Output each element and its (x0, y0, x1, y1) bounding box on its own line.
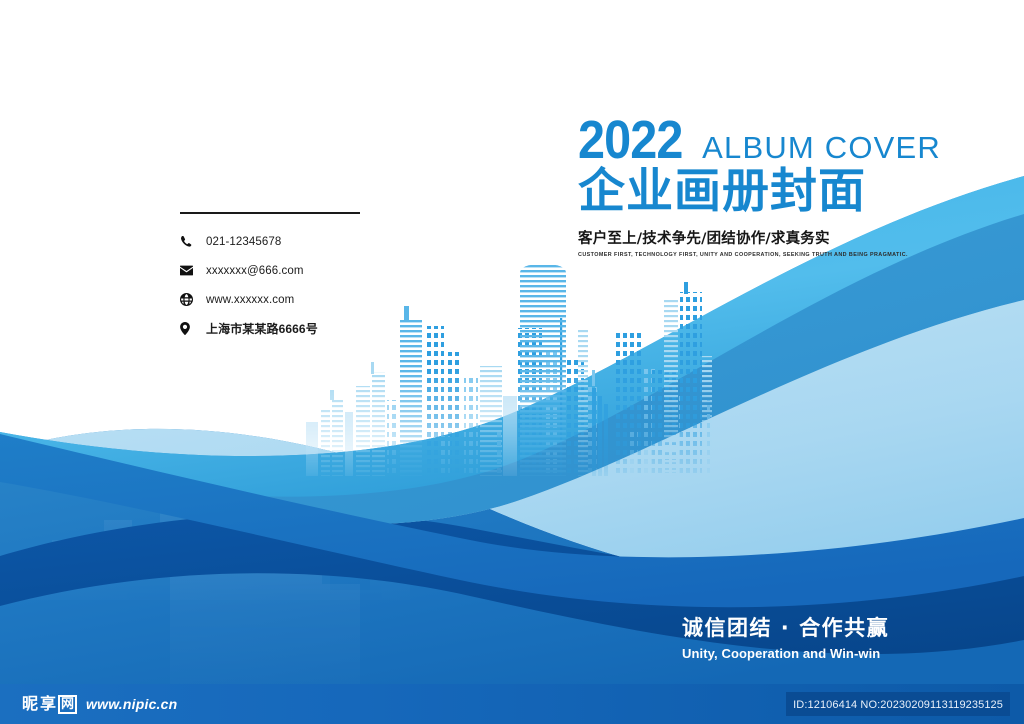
title-album-en: ALBUM COVER (702, 132, 941, 164)
contact-block: 021-12345678 xxxxxxx@666.com www.xxxxxx.… (180, 212, 400, 346)
contact-value-email: xxxxxxx@666.com (206, 265, 304, 277)
contact-value-website: www.xxxxxx.com (206, 294, 294, 306)
wave-background (0, 0, 1024, 684)
contact-value-phone: 021-12345678 (206, 236, 281, 248)
wave-slogan-en: Unity, Cooperation and Win-win (682, 646, 889, 661)
site-logo-cn: 昵 享 网 (22, 695, 77, 714)
phone-icon (180, 235, 206, 248)
wave-slogan-cn: 诚信团结 · 合作共赢 (682, 612, 889, 642)
title-block: 2022 ALBUM COVER 企业画册封面 客户至上/技术争先/团结协作/求… (578, 116, 978, 258)
logo-char-2: 享 (40, 695, 56, 714)
site-logo-url[interactable]: www.nipic.cn (86, 696, 177, 712)
title-slogan-cn: 客户至上/技术争先/团结协作/求真务实 (578, 227, 978, 248)
contact-value-address: 上海市某某路6666号 (206, 320, 318, 337)
title-year: 2022 (578, 116, 683, 164)
title-first-line: 2022 ALBUM COVER (578, 116, 978, 164)
title-slogan-en: CUSTOMER FIRST, TECHNOLOGY FIRST, UNITY … (578, 252, 978, 258)
location-pin-icon (180, 322, 206, 335)
site-logo[interactable]: 昵 享 网 www.nipic.cn (22, 695, 177, 714)
image-id-badge: ID:12106414 NO:20230209113119235125 (786, 692, 1010, 716)
logo-char-1: 昵 (22, 695, 38, 714)
contact-row-website: www.xxxxxx.com (180, 288, 400, 311)
logo-char-3: 网 (58, 695, 77, 714)
contact-row-email: xxxxxxx@666.com (180, 259, 400, 282)
image-id-text: ID:12106414 NO:20230209113119235125 (793, 699, 1003, 711)
contact-row-phone: 021-12345678 (180, 230, 400, 253)
envelope-icon (180, 265, 206, 276)
contact-row-address: 上海市某某路6666号 (180, 317, 400, 340)
contact-divider (180, 212, 360, 214)
globe-icon (180, 293, 206, 306)
watermark-footer-bar: 昵 享 网 www.nipic.cn ID:12106414 NO:202302… (0, 684, 1024, 724)
album-cover-canvas: 021-12345678 xxxxxxx@666.com www.xxxxxx.… (0, 0, 1024, 724)
title-main-cn: 企业画册封面 (578, 166, 978, 218)
wave-slogan-block: 诚信团结 · 合作共赢 Unity, Cooperation and Win-w… (682, 612, 889, 661)
